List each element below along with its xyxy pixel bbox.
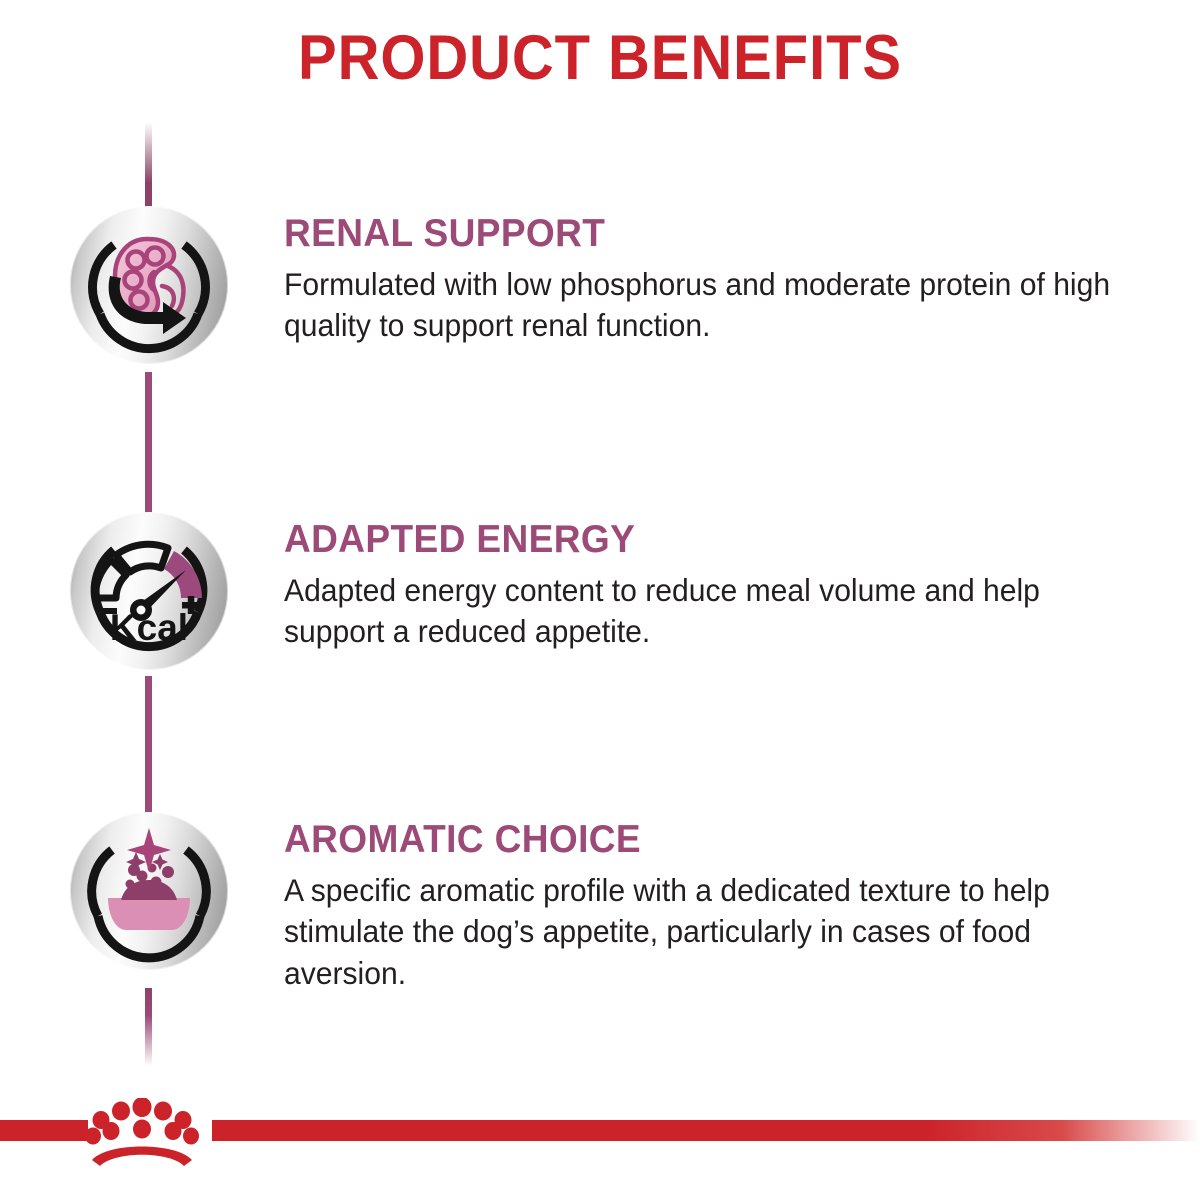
- product-benefits-page: PRODUCT BENEFITS: [0, 0, 1200, 1200]
- footer-bar-right: [212, 1120, 1200, 1141]
- kcal-gauge-icon: Kcal: [70, 512, 228, 670]
- connector-rail-bottom: [145, 988, 152, 1066]
- benefit-text-adapted-energy: ADAPTED ENERGY Adapted energy content to…: [284, 518, 1164, 653]
- benefit-body: Formulated with low phosphorus and moder…: [284, 264, 1124, 347]
- connector-rail-middle-2: [145, 676, 152, 821]
- aroma-bowl-icon: [70, 812, 228, 970]
- connector-rail-middle-1: [145, 372, 152, 520]
- svg-text:Kcal: Kcal: [110, 607, 188, 648]
- kidney-refresh-icon: [70, 206, 228, 364]
- benefit-body: A specific aromatic profile with a dedic…: [284, 870, 1124, 994]
- benefit-heading: ADAPTED ENERGY: [284, 518, 1120, 562]
- footer-bar-left: [0, 1120, 88, 1141]
- benefit-text-renal-support: RENAL SUPPORT Formulated with low phosph…: [284, 212, 1164, 347]
- benefit-heading: AROMATIC CHOICE: [284, 818, 1120, 862]
- page-title: PRODUCT BENEFITS: [48, 22, 1152, 94]
- benefit-text-aromatic-choice: AROMATIC CHOICE A specific aromatic prof…: [284, 818, 1164, 994]
- benefit-body: Adapted energy content to reduce meal vo…: [284, 570, 1124, 653]
- royal-canin-crown-logo: [80, 1098, 204, 1172]
- benefit-heading: RENAL SUPPORT: [284, 212, 1120, 256]
